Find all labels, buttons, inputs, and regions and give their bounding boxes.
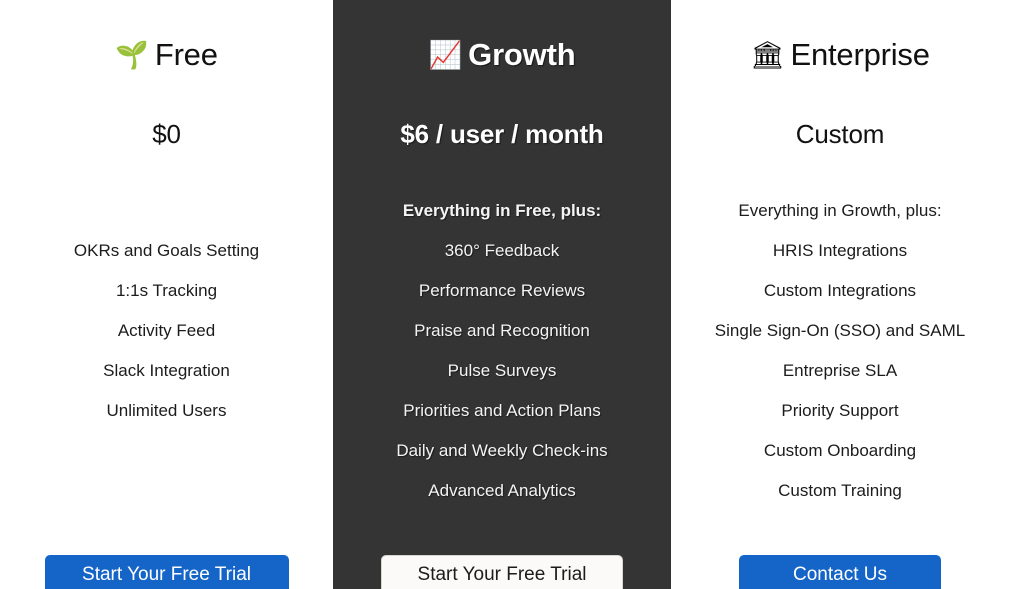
plan-header-growth: 📈 Growth	[429, 33, 576, 77]
cta-container-enterprise: Contact Us	[671, 555, 1009, 589]
pricing-plans-grid: 🌱 Free $0 OKRs and Goals Setting 1:1s Tr…	[0, 0, 1009, 589]
feature-heading-growth: Everything in Free, plus:	[347, 191, 657, 231]
plan-header-free: 🌱 Free	[115, 33, 218, 77]
chart-increasing-icon: 📈	[429, 42, 463, 69]
feature-item: Unlimited Users	[14, 391, 319, 431]
feature-item: Custom Training	[685, 471, 995, 511]
start-free-trial-button-growth[interactable]: Start Your Free Trial	[381, 555, 623, 589]
feature-list-enterprise: Everything in Growth, plus: HRIS Integra…	[685, 191, 995, 511]
feature-item: Entreprise SLA	[685, 351, 995, 391]
plan-price-free: $0	[152, 119, 181, 153]
feature-item: OKRs and Goals Setting	[14, 231, 319, 271]
plan-card-growth: 📈 Growth $6 / user / month Everything in…	[333, 0, 671, 589]
feature-item: 1:1s Tracking	[14, 271, 319, 311]
feature-item: Performance Reviews	[347, 271, 657, 311]
feature-item: Priorities and Action Plans	[347, 391, 657, 431]
feature-item: Priority Support	[685, 391, 995, 431]
feature-item: 360° Feedback	[347, 231, 657, 271]
crown-building-icon: 🏛	[750, 42, 784, 69]
plan-price-enterprise: Custom	[796, 119, 884, 153]
feature-item: Slack Integration	[14, 351, 319, 391]
plan-card-free: 🌱 Free $0 OKRs and Goals Setting 1:1s Tr…	[0, 0, 333, 589]
feature-list-growth: Everything in Free, plus: 360° Feedback …	[347, 191, 657, 511]
feature-item: HRIS Integrations	[685, 231, 995, 271]
plan-header-enterprise: 🏛 Enterprise	[750, 33, 930, 77]
start-free-trial-button-free[interactable]: Start Your Free Trial	[45, 555, 289, 589]
cta-container-growth: Start Your Free Trial	[333, 555, 671, 589]
plan-name-enterprise: Enterprise	[790, 37, 929, 73]
feature-item: Single Sign-On (SSO) and SAML	[685, 311, 995, 351]
contact-us-button[interactable]: Contact Us	[739, 555, 941, 589]
feature-heading-enterprise: Everything in Growth, plus:	[685, 191, 995, 231]
feature-item: Advanced Analytics	[347, 471, 657, 511]
seedling-in-hand-icon: 🌱	[115, 42, 149, 69]
feature-item: Praise and Recognition	[347, 311, 657, 351]
plan-card-enterprise: 🏛 Enterprise Custom Everything in Growth…	[671, 0, 1009, 589]
feature-item: Custom Integrations	[685, 271, 995, 311]
feature-item: Custom Onboarding	[685, 431, 995, 471]
cta-container-free: Start Your Free Trial	[0, 555, 333, 589]
plan-price-growth: $6 / user / month	[400, 119, 603, 153]
feature-list-free: OKRs and Goals Setting 1:1s Tracking Act…	[14, 231, 319, 431]
feature-item: Pulse Surveys	[347, 351, 657, 391]
plan-name-growth: Growth	[468, 37, 575, 73]
plan-name-free: Free	[155, 37, 218, 73]
feature-item: Daily and Weekly Check-ins	[347, 431, 657, 471]
feature-item: Activity Feed	[14, 311, 319, 351]
